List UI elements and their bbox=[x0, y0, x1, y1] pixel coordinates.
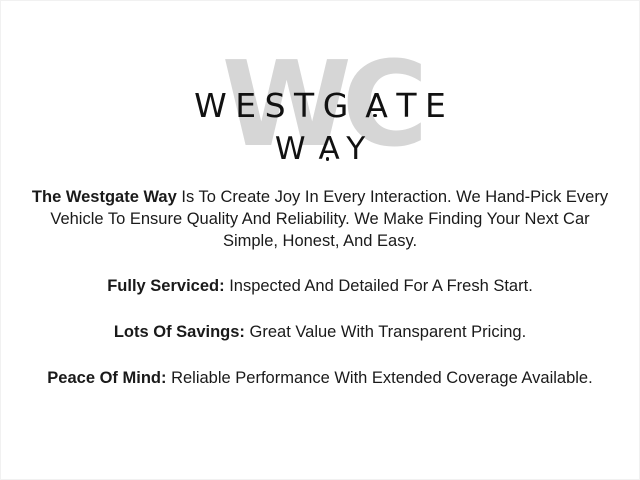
feature-fully-serviced: Fully Serviced: Inspected And Detailed F… bbox=[15, 276, 625, 298]
logo-wordmark-way: WAY bbox=[1, 134, 639, 165]
dealer-info-card: WC WESTGATE WAY The Westgate Way Is To C… bbox=[0, 0, 640, 480]
feature-text-lots-of-savings: Great Value With Transparent Pricing. bbox=[245, 323, 526, 341]
logo-wordmark-westgate: WESTGATE bbox=[1, 89, 639, 122]
feature-label-fully-serviced: Fully Serviced: bbox=[107, 277, 224, 295]
logo-way-dotted-a: A bbox=[312, 134, 346, 165]
intro-paragraph: The Westgate Way Is To Create Joy In Eve… bbox=[15, 187, 625, 252]
feature-text-peace-of-mind: Reliable Performance With Extended Cover… bbox=[167, 369, 593, 387]
feature-label-peace-of-mind: Peace Of Mind: bbox=[47, 369, 166, 387]
logo-way-after-a: Y bbox=[346, 131, 371, 167]
feature-lots-of-savings: Lots Of Savings: Great Value With Transp… bbox=[15, 322, 625, 344]
logo-westgate-dotted-a: A bbox=[357, 89, 397, 122]
feature-peace-of-mind: Peace Of Mind: Reliable Performance With… bbox=[15, 368, 625, 390]
feature-label-lots-of-savings: Lots Of Savings: bbox=[114, 323, 245, 341]
logo-way-before-a: W bbox=[275, 131, 312, 167]
brand-logo-block: WC WESTGATE WAY bbox=[1, 1, 639, 187]
logo-westgate-after-a: TE bbox=[396, 86, 454, 125]
logo-westgate-before-a: WESTG bbox=[194, 86, 357, 125]
body-copy: The Westgate Way Is To Create Joy In Eve… bbox=[1, 187, 639, 390]
intro-lead-label: The Westgate Way bbox=[32, 188, 177, 206]
feature-text-fully-serviced: Inspected And Detailed For A Fresh Start… bbox=[225, 277, 533, 295]
